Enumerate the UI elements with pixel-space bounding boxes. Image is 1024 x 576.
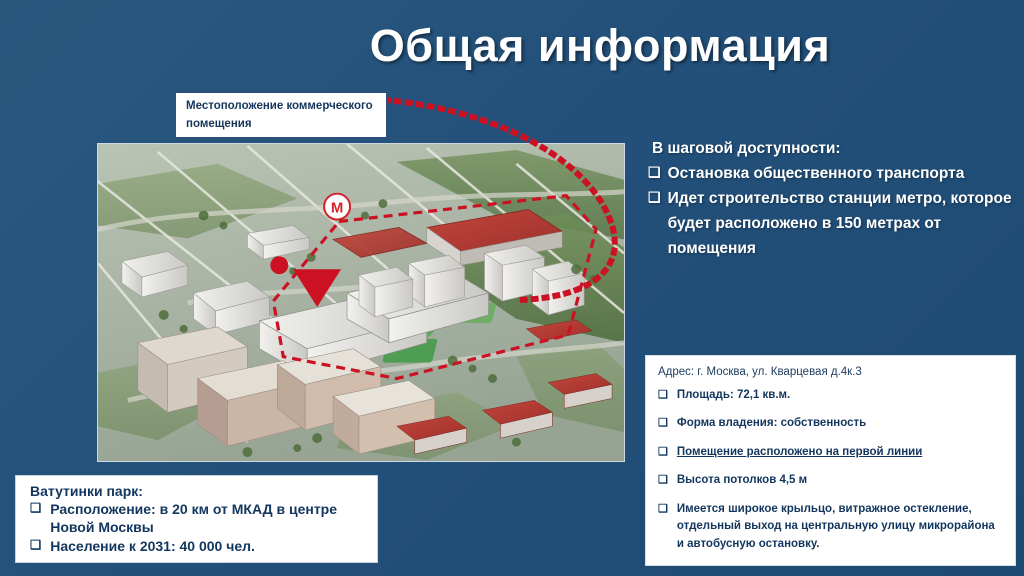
info-item-label: Высота потолков 4,5 м	[677, 472, 807, 489]
walking-item-label: Остановка общественного транспорта	[668, 161, 1018, 186]
checkbox-square-icon: ❑	[648, 186, 661, 209]
location-arrow-icon	[293, 269, 341, 307]
address-line: Адрес: г. Москва, ул. Кварцевая д.4к.3	[658, 366, 1005, 378]
walking-item-metro-construction: ❑ Идет строительство станции метро, кото…	[648, 186, 1018, 261]
park-item-population: ❑ Население к 2031: 40 000 чел.	[30, 537, 369, 555]
park-item-label: Расположение: в 20 км от МКАД в центре Н…	[50, 500, 369, 537]
info-item-entrance-features: ❑ Имеется широкое крыльцо, витражное ост…	[658, 501, 1005, 553]
page-title: Общая информация	[290, 22, 910, 69]
checkbox-square-icon: ❑	[648, 161, 661, 184]
location-pin-icon	[270, 256, 288, 274]
park-card-heading: Ватутинки парк:	[30, 483, 369, 499]
checkbox-square-icon: ❑	[658, 387, 668, 404]
info-item-area: ❑ Площадь: 72,1 кв.м.	[658, 387, 1005, 404]
info-item-ceiling-height: ❑ Высота потолков 4,5 м	[658, 472, 1005, 489]
info-item-ownership: ❑ Форма владения: собственность	[658, 415, 1005, 432]
aerial-district-image: M	[97, 143, 625, 462]
callout-line-2: помещения	[186, 116, 378, 134]
callout-line-1: Местоположение коммерческого	[186, 98, 378, 116]
checkbox-square-icon: ❑	[658, 472, 668, 489]
checkbox-square-icon: ❑	[30, 500, 41, 517]
checkbox-square-icon: ❑	[658, 415, 668, 432]
callout-location-label: Местоположение коммерческого помещения	[175, 92, 387, 138]
info-item-label: Площадь: 72,1 кв.м.	[677, 387, 790, 404]
walking-distance-block: В шаговой доступности: ❑ Остановка общес…	[648, 136, 1018, 262]
park-info-card: Ватутинки парк: ❑ Расположение: в 20 км …	[15, 475, 378, 563]
info-item-label: Форма владения: собственность	[677, 415, 866, 432]
info-item-label: Имеется широкое крыльцо, витражное остек…	[677, 501, 1005, 553]
slide-canvas: Общая информация	[0, 0, 1024, 576]
checkbox-square-icon: ❑	[30, 537, 41, 554]
plot-highlight-overlay	[98, 144, 624, 461]
walking-item-label: Идет строительство станции метро, которо…	[668, 186, 1018, 261]
park-item-label: Население к 2031: 40 000 чел.	[50, 537, 255, 555]
info-item-label: Помещение расположено на первой линии	[677, 444, 922, 461]
walking-distance-heading: В шаговой доступности:	[652, 136, 1018, 161]
park-item-location: ❑ Расположение: в 20 км от МКАД в центре…	[30, 500, 369, 537]
checkbox-square-icon: ❑	[658, 501, 668, 518]
info-item-first-line: ❑ Помещение расположено на первой линии	[658, 444, 1005, 461]
property-info-card: Адрес: г. Москва, ул. Кварцевая д.4к.3 ❑…	[645, 355, 1016, 566]
checkbox-square-icon: ❑	[658, 444, 668, 461]
walking-item-transport-stop: ❑ Остановка общественного транспорта	[648, 161, 1018, 186]
